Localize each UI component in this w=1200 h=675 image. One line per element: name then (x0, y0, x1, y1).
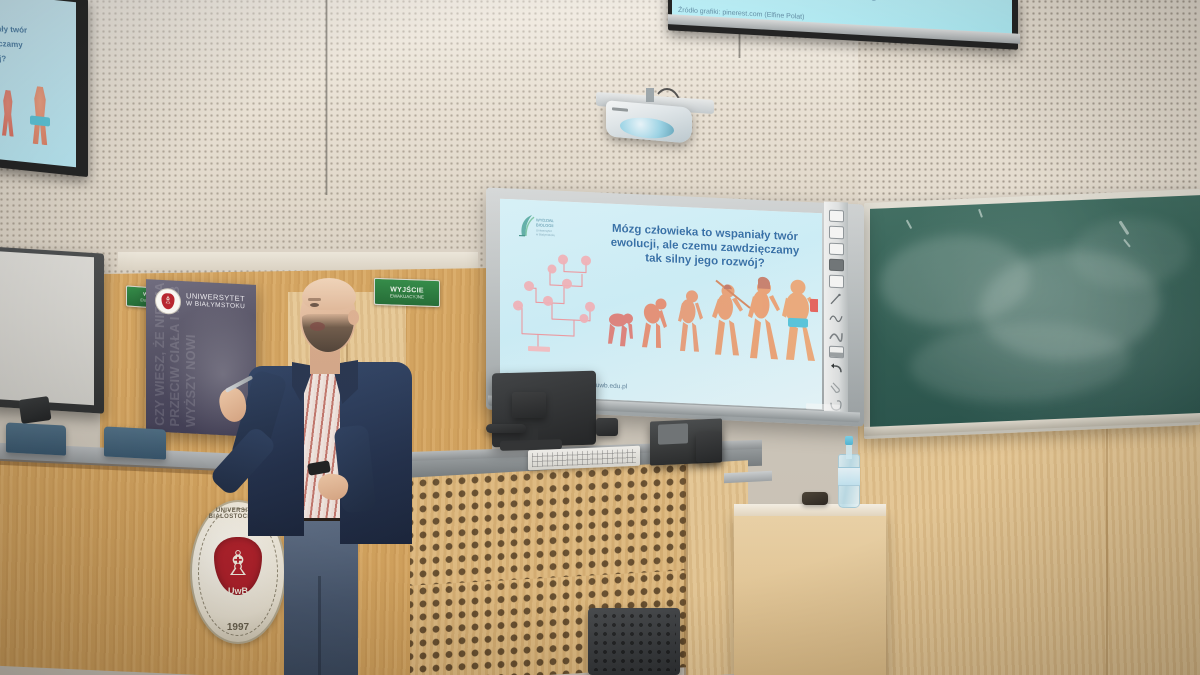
clip-icon[interactable] (829, 381, 843, 395)
lecture-hall-photo: spaniały twór awdzięczamy zwój? biologia… (0, 0, 1200, 675)
banner-crest: ♗ (155, 288, 181, 315)
pen-thin-icon[interactable] (829, 292, 843, 306)
presenter-eye (310, 303, 319, 307)
overhead-screen-header-word: biologia (842, 0, 888, 3)
cable-bundle (486, 424, 526, 433)
keyboard-keys (532, 449, 636, 467)
page-duplicate-icon[interactable] (829, 210, 844, 223)
left-whiteboard-surface[interactable] (0, 251, 94, 406)
bottle-cap (845, 436, 854, 445)
lecture-chair (104, 426, 166, 459)
bottle-label (838, 467, 860, 486)
left-whiteboard-bracket (18, 396, 51, 424)
svg-text:w Białymstoku: w Białymstoku (536, 232, 555, 237)
whiteboard-toolbar[interactable] (824, 201, 848, 412)
lectern-panel-divider (684, 462, 688, 675)
presenter (214, 276, 454, 675)
highlighter-icon[interactable] (829, 328, 843, 342)
av-amplifier-side (696, 431, 722, 462)
chalk-smudge (1070, 216, 1190, 291)
wall-panel-seam (325, 0, 328, 195)
primate-cladogram (512, 247, 604, 355)
undo-icon[interactable] (829, 363, 843, 377)
desk-connector-box (596, 418, 618, 436)
faculty-logo: WYDZIAŁ BIOLOGII Uniwersytet w Białymsto… (514, 211, 564, 239)
monitor-vesa-plate (512, 392, 546, 418)
bottle-neck (846, 445, 853, 459)
left-screen-title-frag2: awdzięczamy (0, 38, 23, 50)
banner-eagle-icon: ♗ (164, 297, 173, 307)
av-amplifier-faceplate (658, 423, 688, 444)
left-screen-evolution-figure (0, 89, 18, 137)
chalk-mark (906, 219, 912, 229)
presenter-mouth (310, 322, 325, 331)
presenter-trouser-seam (318, 576, 321, 675)
presenter-ear (348, 310, 359, 325)
wall-wood-right (858, 418, 1200, 675)
chalk-smudge (910, 318, 1130, 407)
page-blank-icon[interactable] (829, 242, 844, 255)
keyring[interactable] (802, 492, 828, 505)
presenter-brow (308, 298, 321, 301)
lecture-chair (6, 422, 66, 455)
lecture-chair-dark (588, 608, 680, 675)
human-evolution-figures (604, 263, 818, 365)
left-screen-title-frag3: zwój? (0, 53, 6, 63)
wall-wood-right-seam (1106, 418, 1108, 675)
eraser-icon[interactable] (829, 345, 844, 358)
left-screen-evolution-figure-trunks (30, 115, 50, 126)
evolution-march-icon (604, 263, 818, 365)
select-arrow-icon[interactable] (829, 275, 844, 288)
water-bottle[interactable] (838, 436, 860, 508)
wall-shelf (724, 471, 772, 484)
page-copy-icon[interactable] (829, 226, 844, 239)
side-cabinet-top (734, 504, 886, 516)
svg-text:BIOLOGII: BIOLOGII (536, 222, 554, 228)
chair-perforation (592, 612, 676, 671)
cladogram-icon (512, 247, 604, 355)
left-screen-title-frag1: spaniały twór (0, 23, 27, 35)
chalkboard (870, 195, 1200, 431)
page-filled-icon[interactable] (829, 259, 844, 272)
pen-wave-icon[interactable] (829, 310, 843, 324)
chalk-mark (978, 209, 983, 218)
left-overhead-screen-content: spaniały twór awdzięczamy zwój? (0, 0, 76, 167)
faculty-logo-icon: WYDZIAŁ BIOLOGII Uniwersytet w Białymsto… (514, 211, 564, 239)
wall-band-light (118, 252, 478, 270)
side-cabinet (734, 512, 886, 675)
